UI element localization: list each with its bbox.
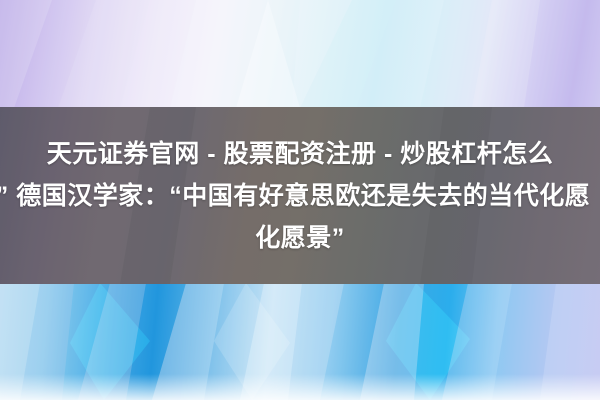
text-overlay-band: [0, 107, 600, 284]
top-band-facets: [0, 0, 600, 108]
top-gradient-band: [0, 0, 600, 108]
overlay-shade: [0, 107, 600, 284]
bottom-gradient-band: [0, 283, 600, 400]
promo-banner: 天元证券官网 - 股票配资注册 - 炒股杠杆怎么 ” 德国汉学家：“中国有好意思…: [0, 0, 600, 400]
bottom-haze: [0, 374, 600, 400]
